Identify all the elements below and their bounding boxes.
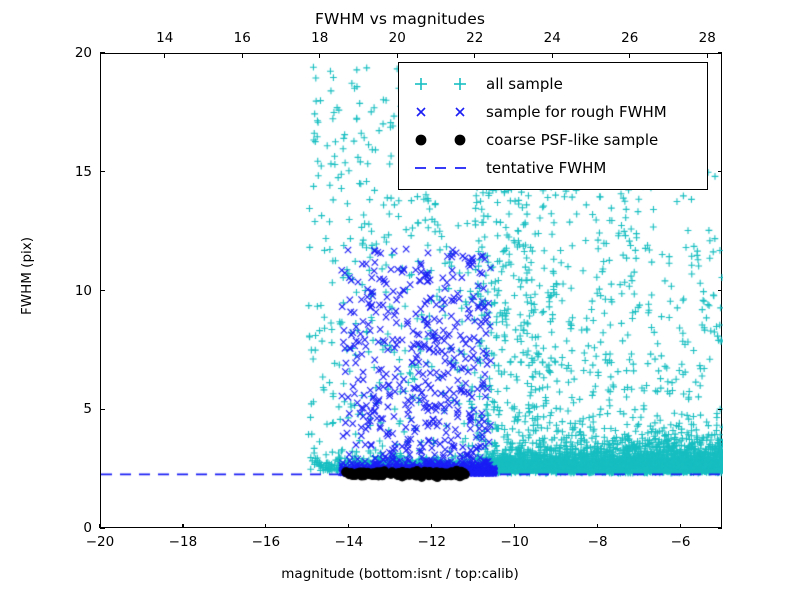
tick-mark [718, 171, 723, 172]
x-tick-6: −8 [588, 534, 608, 550]
x-axis-label: magnitude (bottom:isnt / top:calib) [0, 566, 800, 582]
legend-item-coarse-psf[interactable]: coarse PSF-like sample [408, 126, 698, 154]
y-tick-1: 5 [54, 401, 92, 417]
legend-label-rough-fwhm: sample for rough FWHM [486, 105, 667, 120]
legend-item-rough-fwhm[interactable]: sample for rough FWHM [408, 98, 698, 126]
x-tick-2: −16 [252, 534, 281, 550]
tick-mark [100, 527, 105, 528]
tick-mark [514, 524, 515, 529]
legend-box[interactable]: all sample sample for rough FWHM [398, 62, 708, 190]
tick-mark [552, 53, 553, 58]
tick-mark [100, 290, 105, 291]
x-tick-0: −20 [86, 534, 115, 550]
dot-marker-icon [408, 126, 486, 154]
legend-item-all-sample[interactable]: all sample [408, 70, 698, 98]
plus-marker-icon [408, 70, 486, 98]
tick-mark [242, 53, 243, 58]
top-tick-4: 22 [466, 30, 483, 46]
figure-canvas: FWHM vs magnitudes 1416182022242628 −20−… [0, 0, 800, 600]
tick-mark [319, 53, 320, 58]
top-tick-1: 16 [234, 30, 251, 46]
x-tick-3: −14 [335, 534, 364, 550]
tick-mark [164, 53, 165, 58]
legend-label-tentative-fwhm: tentative FWHM [486, 161, 606, 176]
top-tick-5: 24 [544, 30, 561, 46]
tick-mark [100, 171, 105, 172]
y-tick-4: 20 [54, 45, 92, 61]
x-tick-5: −10 [500, 534, 529, 550]
tick-mark [474, 53, 475, 58]
y-tick-2: 10 [54, 283, 92, 299]
page-title: FWHM vs magnitudes [0, 10, 800, 28]
tick-mark [100, 52, 105, 53]
cross-marker-icon [408, 98, 486, 126]
tick-mark [718, 290, 723, 291]
y-tick-0: 0 [54, 520, 92, 536]
tick-mark [100, 409, 105, 410]
top-tick-7: 28 [699, 30, 716, 46]
tick-mark [718, 409, 723, 410]
dashed-line-icon [408, 154, 486, 182]
tick-mark [431, 524, 432, 529]
tick-mark [182, 524, 183, 529]
y-axis-label: FWHM (pix) [19, 156, 35, 396]
top-tick-6: 26 [621, 30, 638, 46]
tick-mark [397, 53, 398, 58]
legend-item-tentative-fwhm[interactable]: tentative FWHM [408, 154, 698, 182]
tick-mark [597, 524, 598, 529]
top-tick-3: 20 [389, 30, 406, 46]
legend-label-coarse-psf: coarse PSF-like sample [486, 133, 658, 148]
tick-mark [718, 527, 723, 528]
top-tick-0: 14 [156, 30, 173, 46]
tick-mark [718, 52, 723, 53]
top-tick-2: 18 [311, 30, 328, 46]
tick-mark [265, 524, 266, 529]
tick-mark [707, 53, 708, 58]
x-tick-4: −12 [417, 534, 446, 550]
tick-mark [680, 524, 681, 529]
tick-mark [629, 53, 630, 58]
y-tick-3: 15 [54, 164, 92, 180]
legend-label-all-sample: all sample [486, 77, 563, 92]
x-tick-1: −18 [169, 534, 198, 550]
x-tick-7: −6 [671, 534, 691, 550]
tick-mark [348, 524, 349, 529]
